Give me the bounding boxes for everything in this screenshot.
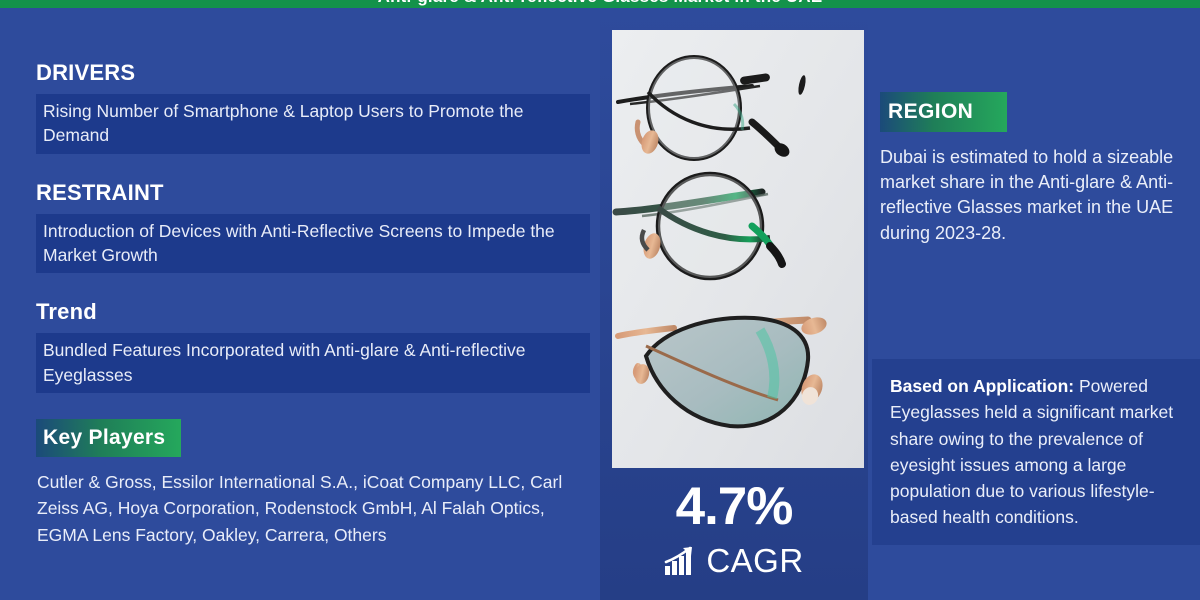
cagr-block: 4.7% CAGR — [600, 480, 868, 576]
region-section: REGION Dubai is estimated to hold a size… — [868, 8, 1200, 246]
bar-chart-growth-arrow-icon — [664, 546, 698, 576]
left-column: DRIVERS Rising Number of Smartphone & La… — [0, 8, 600, 600]
center-column: 4.7% CAGR — [600, 8, 868, 600]
drivers-body: Rising Number of Smartphone & Laptop Use… — [36, 94, 590, 153]
restraint-heading: RESTRAINT — [36, 180, 590, 205]
eyeglasses-photo — [612, 30, 864, 468]
application-label: Based on Application: — [890, 376, 1074, 396]
drivers-section: DRIVERS Rising Number of Smartphone & La… — [36, 60, 590, 154]
key-players-list: Cutler & Gross, Essilor International S.… — [36, 469, 576, 549]
trend-heading: Trend — [36, 299, 590, 324]
key-players-badge: Key Players — [36, 419, 181, 457]
region-badge: REGION — [880, 92, 1007, 132]
trend-body: Bundled Features Incorporated with Anti-… — [36, 333, 590, 392]
application-body: Powered Eyeglasses held a significant ma… — [890, 376, 1173, 527]
cagr-label-row: CAGR — [600, 545, 868, 576]
restraint-section: RESTRAINT Introduction of Devices with A… — [36, 180, 590, 274]
application-text: Based on Application: Powered Eyeglasses… — [890, 373, 1194, 531]
top-accent-bar: Anti-glare & Anti-reflective Glasses Mar… — [0, 0, 1200, 8]
key-players-section: Key Players Cutler & Gross, Essilor Inte… — [36, 419, 590, 549]
cagr-value: 4.7% — [600, 480, 868, 533]
right-column: REGION Dubai is estimated to hold a size… — [868, 8, 1200, 600]
cagr-label: CAGR — [706, 545, 803, 576]
application-section: Based on Application: Powered Eyeglasses… — [872, 359, 1200, 545]
trend-section: Trend Bundled Features Incorporated with… — [36, 299, 590, 393]
drivers-heading: DRIVERS — [36, 60, 590, 85]
infographic-root: Anti-glare & Anti-reflective Glasses Mar… — [0, 0, 1200, 600]
region-text: Dubai is estimated to hold a sizeable ma… — [880, 145, 1190, 246]
infographic-title: Anti-glare & Anti-reflective Glasses Mar… — [0, 0, 1200, 7]
restraint-body: Introduction of Devices with Anti-Reflec… — [36, 214, 590, 273]
